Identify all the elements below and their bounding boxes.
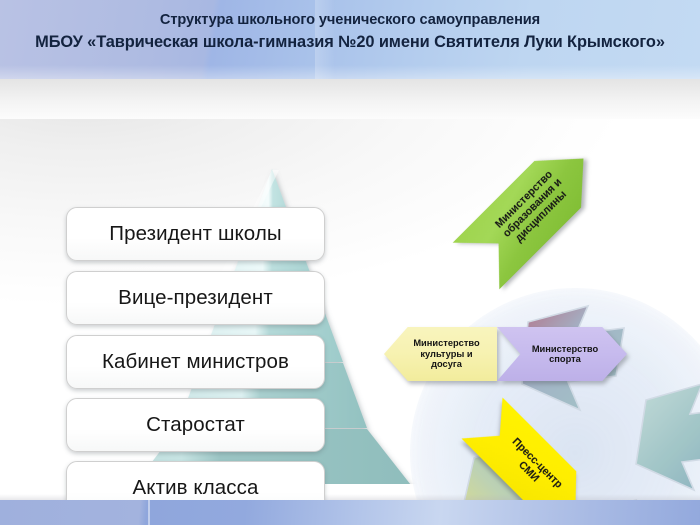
ministry-label-sport: Министерство спорта [497,327,627,381]
slide-canvas: Структура школьного ученического самоупр… [0,0,700,525]
cycle-arrow-right [636,384,700,490]
pyramid-level-label-5: Актив класса [133,476,259,500]
pyramid-level-label-1: Президент школы [109,222,282,246]
ministry-arrow-culture[interactable]: Министерство культуры и досуга [384,327,497,381]
pyramid-level-box-2[interactable]: Вице-президент [66,271,325,325]
pyramid-level-label-4: Старостат [146,413,245,437]
pyramid-level-box-5[interactable]: Актив класса [66,461,325,500]
slide-body: Президент школы Вице-президент Кабинет м… [0,79,700,500]
title-line-1: Структура школьного ученического самоупр… [0,11,700,30]
pyramid-level-label-3: Кабинет министров [102,350,289,374]
ministry-arrow-sport[interactable]: Министерство спорта [497,327,627,381]
slide-footer-band [0,500,700,525]
footer-divider [148,500,150,525]
page-title: Структура школьного ученического самоупр… [0,11,700,54]
title-line-2: МБОУ «Таврическая школа-гимназия №20 име… [0,32,700,54]
pyramid-level-box-1[interactable]: Президент школы [66,207,325,261]
pyramid-level-box-4[interactable]: Старостат [66,398,325,452]
pyramid-level-box-3[interactable]: Кабинет министров [66,335,325,389]
pyramid-level-label-2: Вице-президент [118,286,273,310]
ministry-label-culture: Министерство культуры и досуга [384,327,497,381]
